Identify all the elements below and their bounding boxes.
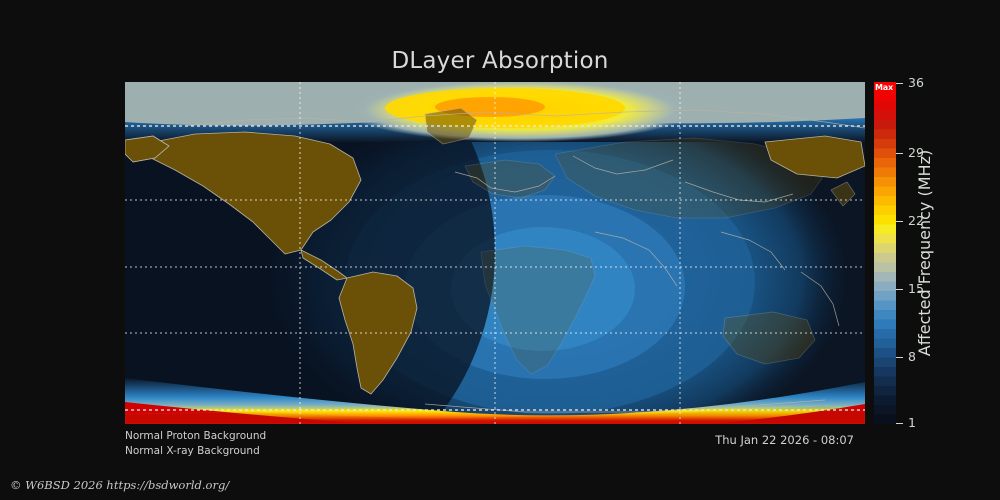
- copyright-label: © W6BSD 2026 https://bsdworld.org/: [10, 478, 229, 492]
- dlayer-absorption-page: DLayer Absorption: [0, 0, 1000, 500]
- world-absorption-map[interactable]: [125, 82, 865, 424]
- tick-dash-icon: [896, 289, 903, 290]
- xray-background-note: Normal X-ray Background: [125, 445, 260, 457]
- tick-dash-icon: [896, 221, 903, 222]
- tick-dash-icon: [896, 357, 903, 358]
- timestamp-label: Thu Jan 22 2026 - 08:07: [715, 433, 854, 447]
- tick-dash-icon: [896, 423, 903, 424]
- colorbar-gradient: [874, 82, 896, 424]
- map-canvas: [125, 82, 865, 424]
- page-title: DLayer Absorption: [0, 48, 1000, 74]
- tick-dash-icon: [896, 83, 903, 84]
- colorbar-axis-label: Affected Frequency (MHz): [912, 82, 938, 424]
- colorbar[interactable]: Max: [874, 82, 896, 424]
- colorbar-max-badge: Max: [875, 83, 893, 93]
- proton-background-note: Normal Proton Background: [125, 430, 266, 442]
- tick-dash-icon: [896, 153, 903, 154]
